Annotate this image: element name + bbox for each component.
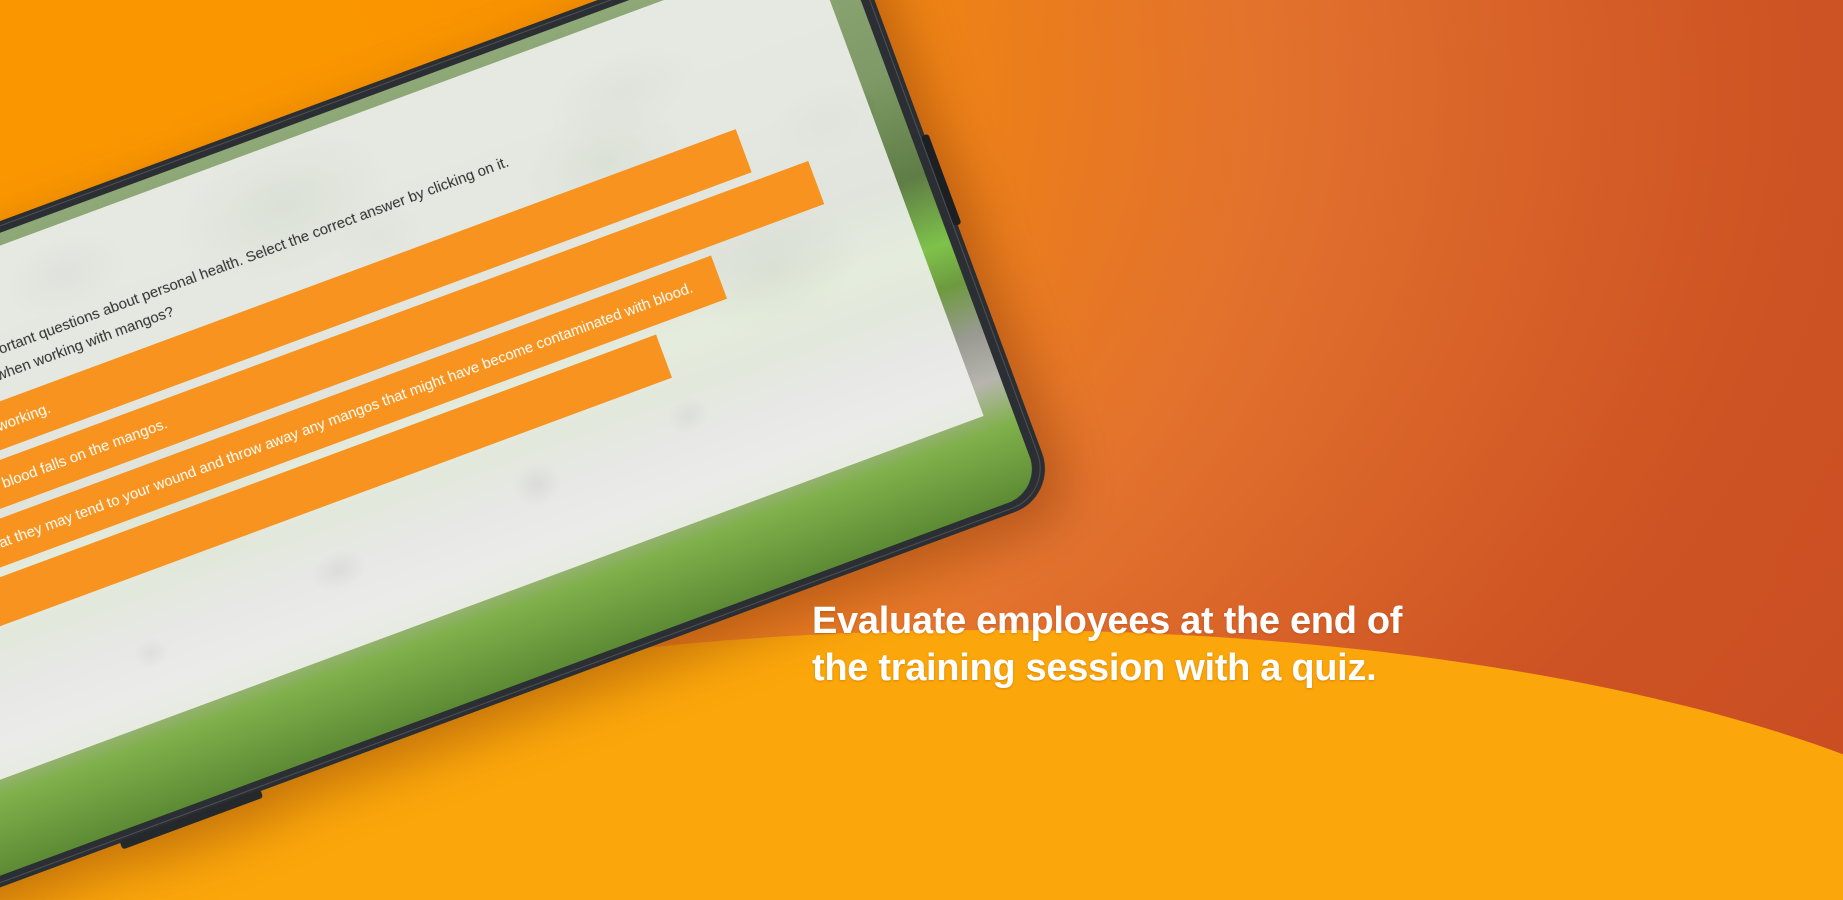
headline-block: Evaluate employees at the end of the tra… xyxy=(812,598,1512,691)
headline-line-2: the training session with a quiz. xyxy=(812,645,1512,692)
headline-line-1: Evaluate employees at the end of xyxy=(812,598,1512,645)
